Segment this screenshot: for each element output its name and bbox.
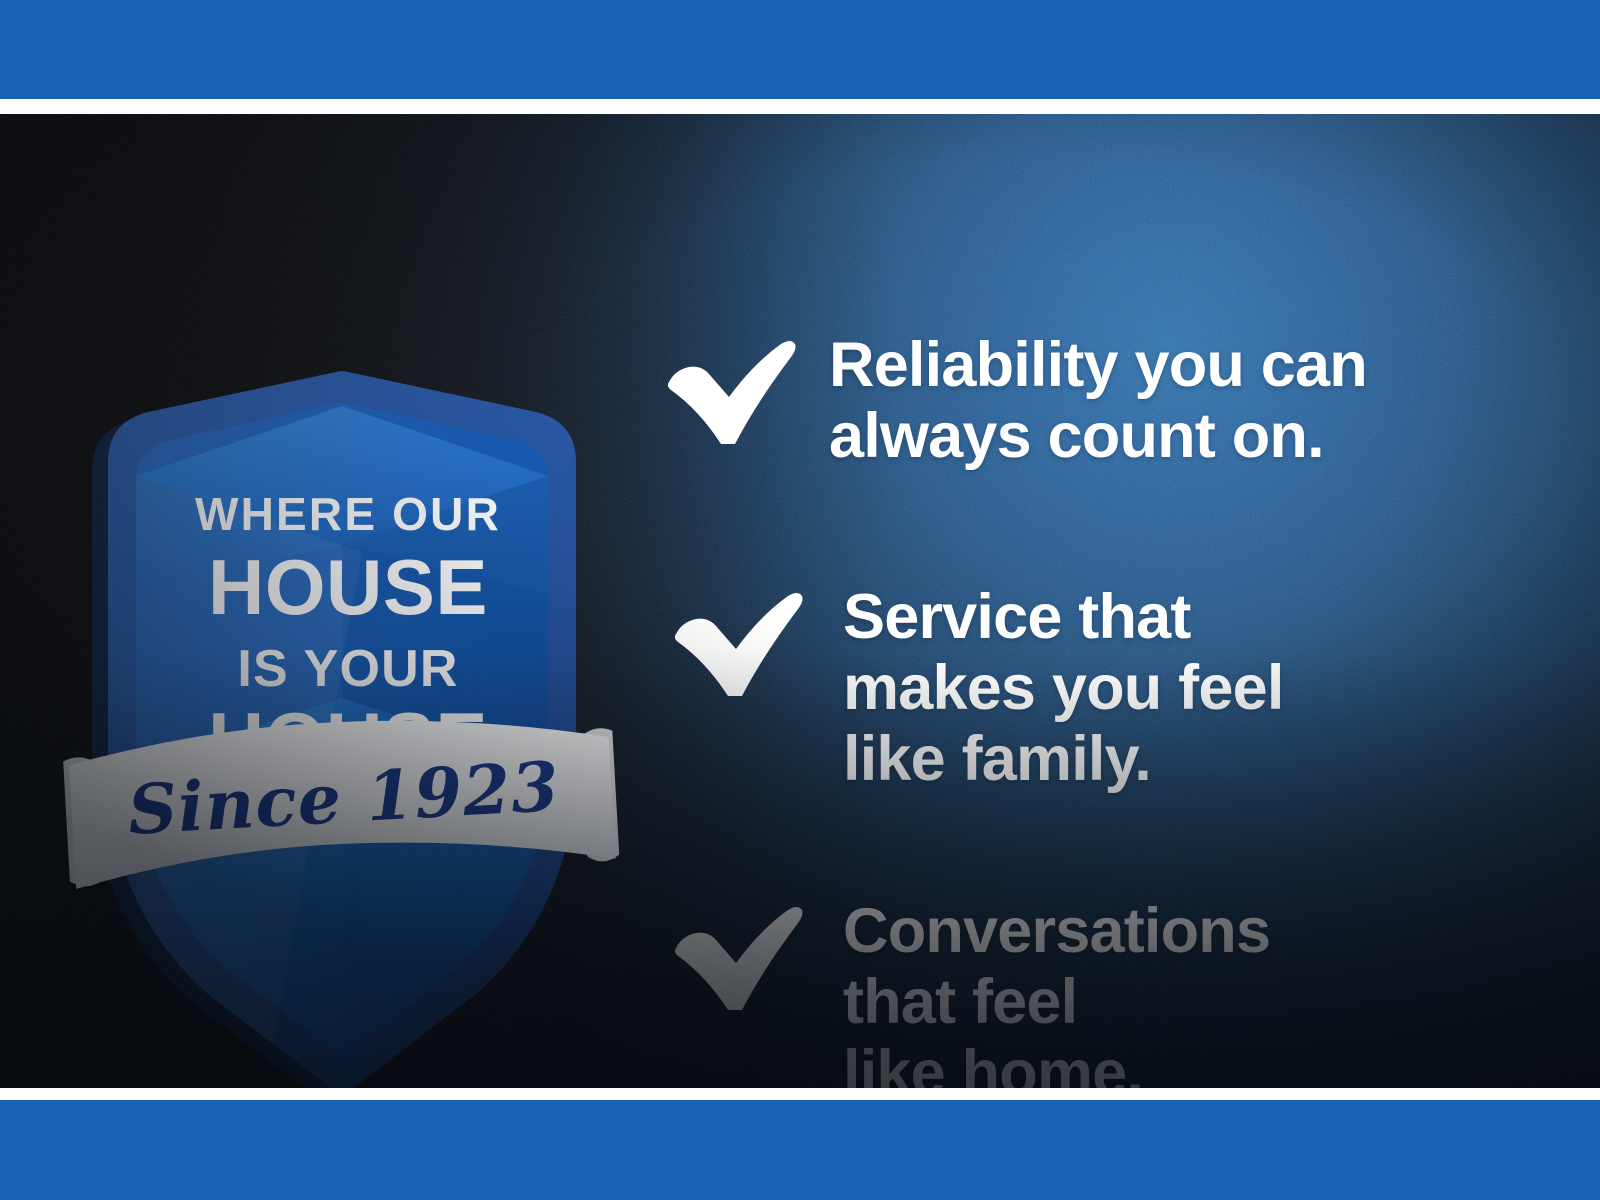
benefit-text-2: Service that makes you feel like family. xyxy=(843,582,1284,796)
shield-line-1: WHERE OUR xyxy=(195,488,501,540)
shield-line-2: HOUSE xyxy=(208,543,488,631)
checkmark-icon xyxy=(665,588,811,700)
content-stage: WHERE OUR HOUSE IS YOUR HOUSE Since 1923 xyxy=(0,114,1600,1088)
shield-badge: WHERE OUR HOUSE IS YOUR HOUSE Since 1923 xyxy=(62,294,622,1074)
top-brand-bar xyxy=(0,0,1600,99)
checkmark-icon xyxy=(665,902,811,1014)
shield-line-3: IS YOUR xyxy=(237,640,458,698)
checkmark-icon xyxy=(665,336,797,448)
poster-root: WHERE OUR HOUSE IS YOUR HOUSE Since 1923 xyxy=(0,0,1600,1200)
benefit-text-3: Conversations that feel like home. xyxy=(843,896,1270,1088)
bottom-brand-bar xyxy=(0,1100,1600,1200)
benefit-item-1: Reliability you can always count on. xyxy=(665,330,1367,472)
benefit-item-2: Service that makes you feel like family. xyxy=(665,582,1284,796)
benefit-text-1: Reliability you can always count on. xyxy=(829,330,1367,472)
benefit-item-3: Conversations that feel like home. xyxy=(665,896,1270,1088)
benefit-list: Reliability you can always count on. Ser… xyxy=(665,294,1545,1088)
